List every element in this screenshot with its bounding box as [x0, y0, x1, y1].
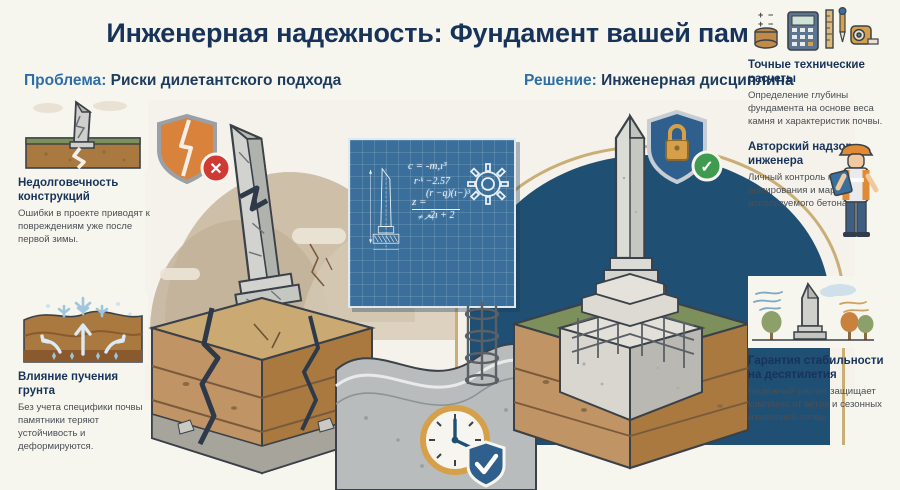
locked-shield-verified-icon[interactable]: ✓ [645, 106, 727, 190]
svg-text:+: + [758, 19, 763, 29]
frost-heave-icon [18, 292, 148, 364]
secure-shield-mark: ✓ [700, 159, 713, 176]
card-body: Надежный расчет защищает комплекс от вет… [748, 386, 888, 425]
cloud-icon [160, 268, 200, 280]
blueprint-panel: c = -m,ı³ r·ᵏ −2.57 z = (r −q)(ı−)³ 2ı +… [348, 138, 516, 308]
infographic-root: Инженерная надежность: Фундамент вашей п… [0, 0, 900, 490]
calculator-tools-icon: +− +− [748, 6, 878, 52]
solution-card-stability: Гарантия стабильности на десятилетия Над… [748, 276, 888, 425]
reinforced-foundation-block [506, 272, 756, 490]
sinking-cracked-obelisk-icon [18, 98, 148, 170]
problem-subheading: Проблема: Риски дилетантского подхода [24, 72, 341, 90]
problem-subheading-rest: Риски дилетантского подхода [106, 72, 341, 89]
blueprint-formula-1: c = -m,ı³ [408, 160, 447, 172]
blueprint-formula-3: z = [412, 196, 426, 208]
card-body: Ошибки в проекте приводят к повреждениям… [18, 208, 158, 247]
blueprint-formula-numerator: (r −q)(ı−)³ [426, 188, 470, 199]
solution-card-calculations: +− +− [748, 6, 888, 129]
broken-shield-mark: ✕ [209, 161, 222, 178]
blueprint-formula-4: ≠↗↑ [418, 212, 435, 223]
clock-icon[interactable] [418, 400, 510, 488]
solution-subheading-accent: Решение: [524, 72, 597, 89]
engineer-supervisor-icon [826, 132, 896, 238]
problem-card-frost-heave: Влияние пучения грунта Без учета специфи… [18, 292, 158, 453]
stable-monument-landscape-icon [748, 276, 878, 348]
card-body: Определение глубины фундамента на основе… [748, 90, 888, 129]
gear-icon [466, 162, 510, 206]
broken-shield-error-icon[interactable]: ✕ [157, 108, 235, 190]
problem-subheading-accent: Проблема: [24, 72, 106, 89]
card-heading: Влияние пучения грунта [18, 370, 158, 398]
svg-text:−: − [768, 19, 773, 29]
problem-card-durability: Недолговечность конструкций Ошибки в про… [18, 98, 158, 247]
card-heading: Точные технические расчеты [748, 58, 888, 86]
obelisk-elevation-drawing-icon [368, 158, 404, 268]
blueprint-formula-2: r·ᵏ −2.57 [414, 176, 450, 187]
card-body: Без учета специфики почвы памятники теря… [18, 402, 158, 453]
card-heading: Гарантия стабильности на десятилетия [748, 354, 888, 382]
solution-card-supervision: Авторский надзор инженера Личный контрол… [748, 140, 888, 211]
card-heading: Недолговечность конструкций [18, 176, 158, 204]
